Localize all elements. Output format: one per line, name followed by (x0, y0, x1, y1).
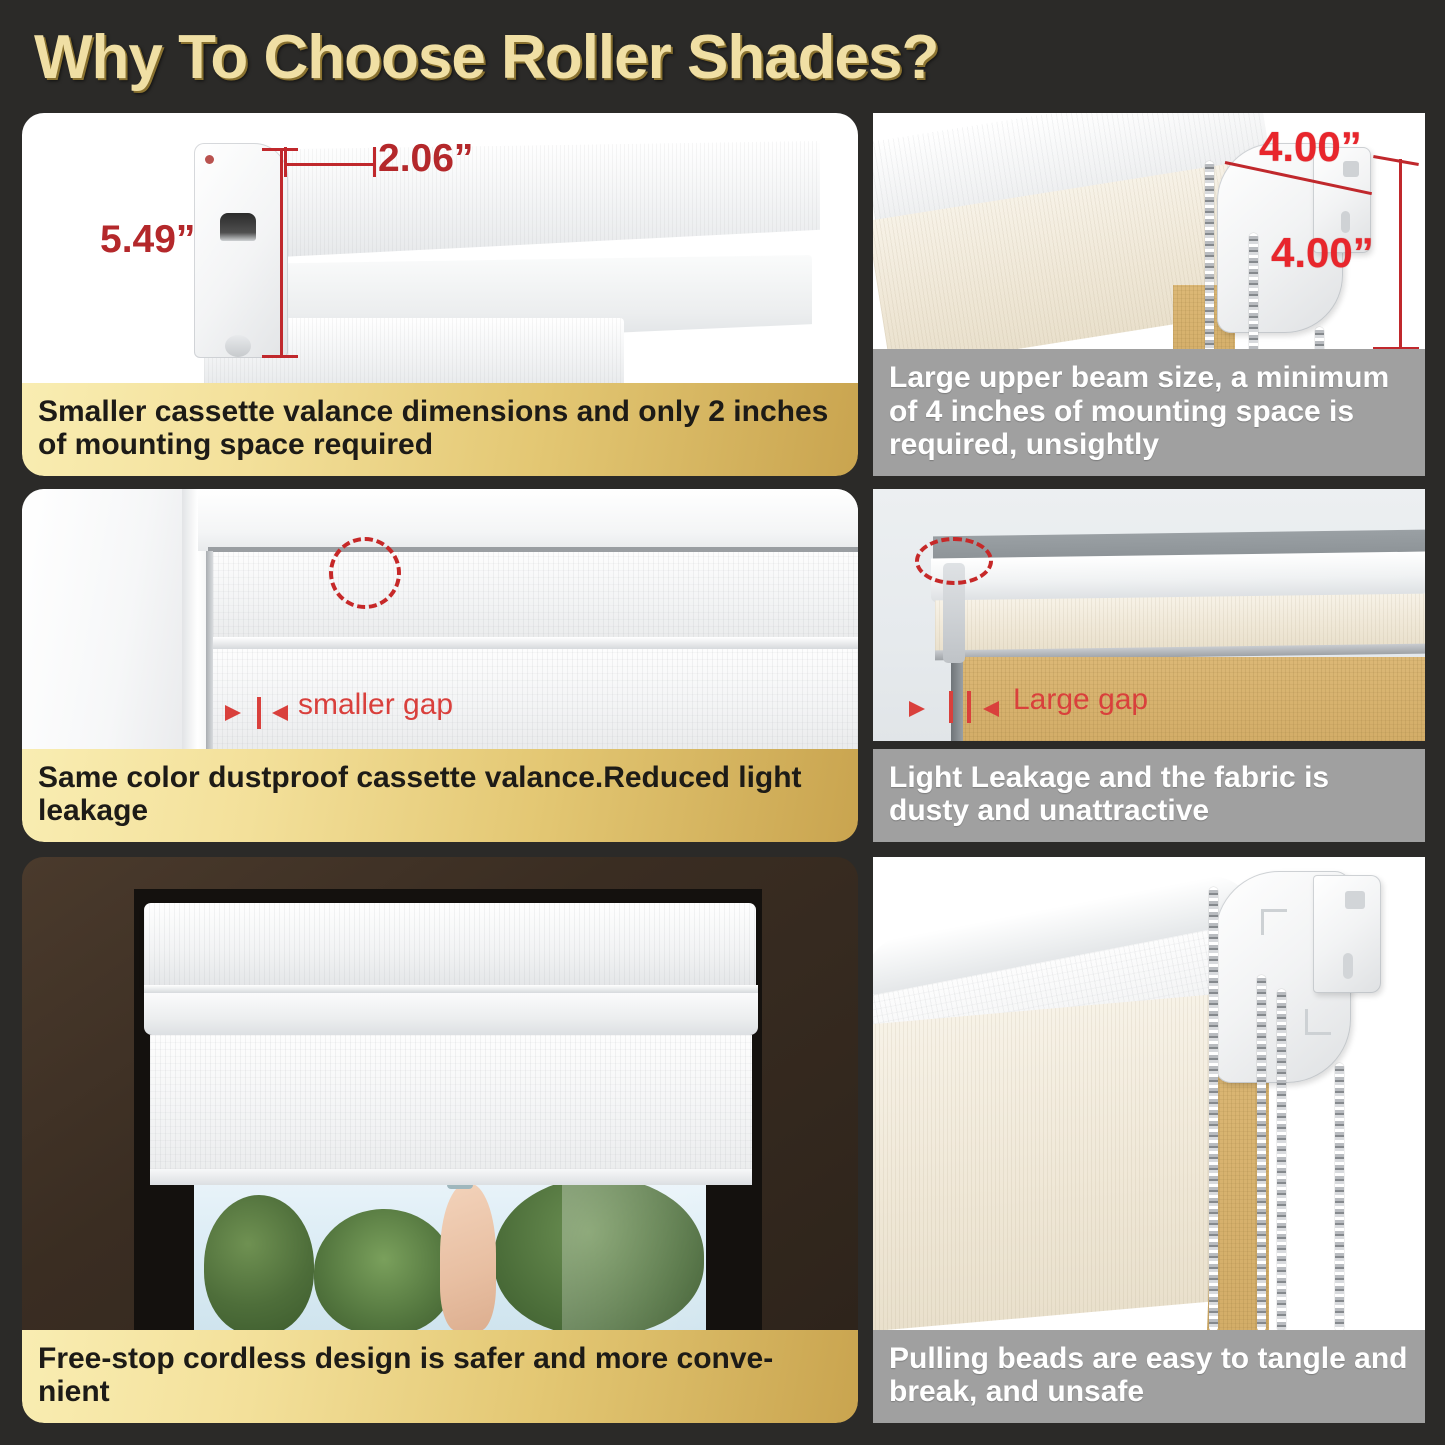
panel-large-upper-beam: 4.00” 4.00” Large upper beam size, a min… (873, 113, 1425, 476)
window-header-trim (198, 489, 858, 551)
panel-4-caption: Light Leakage and the fabric is dusty an… (873, 749, 1425, 842)
large-gap-label: Large gap (1013, 683, 1148, 717)
width-dimension-tick-left (284, 147, 287, 177)
pulling-bead-chain-1 (1209, 887, 1218, 1332)
valance-seam-highlight-circle (329, 537, 401, 609)
bead-chain-middle (1249, 233, 1258, 368)
panel-2-caption: Large upper beam size, a minimum of 4 in… (873, 349, 1425, 476)
beam-gap-highlight-circle (915, 537, 993, 585)
valance-slot-opening (220, 213, 256, 241)
panel-dustproof-cassette-valance: smaller gap Same color dustproof cassett… (22, 489, 858, 842)
height-dimension-line (280, 148, 283, 358)
bracket-mount-slot-top (1345, 891, 1365, 909)
bead-chain-left (1205, 161, 1214, 368)
cassette-valance-illustration (200, 141, 820, 261)
large-gap-arrow-right (983, 701, 999, 717)
height-dimension-tick-top (262, 148, 298, 151)
valance-top-seam (208, 547, 858, 552)
gap-arrow-right (272, 705, 288, 721)
pulling-bead-chain-4 (1335, 1063, 1344, 1332)
bracket-icon-lower (1305, 1009, 1331, 1035)
cassette-valance-face (208, 551, 858, 641)
width-dimension-tick-right (373, 147, 376, 177)
panel-3-photo: smaller gap (22, 489, 858, 751)
panel-free-stop-cordless-design: Free-stop cordless design is safer and m… (22, 857, 858, 1423)
beam-width-dimension-label: 4.00” (1259, 123, 1362, 171)
cassette-valance-header (144, 903, 756, 989)
panel-1-caption: Smaller cassette valance dimensions and … (22, 383, 858, 476)
valance-lower-lip-bottom (144, 993, 758, 1035)
panel-5-caption: Free-stop cordless design is safer and m… (22, 1330, 858, 1423)
gap-measure-bar (257, 697, 261, 729)
infographic-root: Why To Choose Roller Shades? 2.06” 5.49”… (0, 0, 1445, 1445)
panel-light-leakage-dusty-fabric: Large gap Light Leakage and the fabric i… (873, 489, 1425, 842)
window-casing-left (22, 489, 190, 751)
panel-pulling-beads-tangle: Pulling beads are easy to tangle and bre… (873, 857, 1425, 1423)
tree-center (314, 1209, 454, 1332)
panel-2-photo: 4.00” 4.00” (873, 113, 1425, 368)
roller-shade-fabric (150, 1035, 752, 1183)
pulling-bead-chain-2 (1257, 975, 1266, 1332)
valance-screw-lower (225, 335, 251, 357)
beam-height-tick-top (1373, 155, 1419, 166)
shade-side-rail (206, 551, 213, 751)
panel-cassette-valance-dimensions: 2.06” 5.49” Smaller cassette valance dim… (22, 113, 858, 476)
page-title: Why To Choose Roller Shades? (34, 22, 938, 93)
bracket-mount-slot-bottom (1343, 953, 1353, 979)
smaller-gap-label: smaller gap (298, 688, 453, 722)
large-gap-measure-bar-2 (967, 691, 971, 723)
panel-1-photo: 2.06” 5.49” (22, 113, 858, 391)
width-dimension-line (284, 163, 376, 166)
panel-6-photo (873, 857, 1425, 1332)
panel-3-caption: Same color dustproof cassette valance.Re… (22, 749, 858, 842)
panel-6-caption: Pulling beads are easy to tangle and bre… (873, 1330, 1425, 1423)
bracket-icon-upper (1261, 909, 1287, 935)
cream-fabric-body (873, 994, 1219, 1332)
height-dimension-tick-bottom (262, 355, 298, 358)
valance-bottom-edge (208, 637, 858, 649)
pulling-bead-chain-3 (1277, 989, 1286, 1332)
panel-5-photo (22, 857, 858, 1332)
large-gap-measure-bar-1 (949, 691, 953, 723)
panel-4-photo: Large gap (873, 489, 1425, 741)
width-dimension-label: 2.06” (378, 137, 473, 181)
valance-screw-upper (205, 155, 214, 164)
beam-height-dimension-label: 4.00” (1271, 229, 1374, 277)
tree-left (204, 1195, 314, 1332)
height-dimension-label: 5.49” (100, 218, 195, 262)
hand-pulling-shade (440, 1183, 496, 1331)
large-gap-arrow-left (909, 701, 925, 717)
gap-arrow-left (225, 705, 241, 721)
beam-height-dimension-line (1399, 159, 1402, 349)
shade-bottom-rail (150, 1169, 752, 1185)
valance-end-cap (194, 143, 288, 358)
